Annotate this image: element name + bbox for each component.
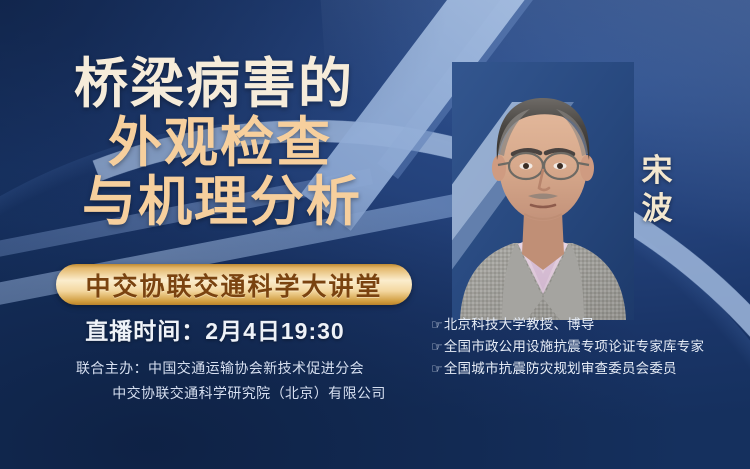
speaker-credentials: ☞ 北京科技大学教授、博导 ☞ 全国市政公用设施抗震专项论证专家库专家 ☞ 全国… <box>431 314 746 380</box>
organizer-line-1: 联合主办：中国交通运输协会新技术促进分会 <box>0 356 440 381</box>
credential-row: ☞ 北京科技大学教授、博导 <box>431 314 746 336</box>
credential-text: 北京科技大学教授、博导 <box>444 314 595 336</box>
title-line-1: 桥梁病害的 <box>0 58 430 111</box>
speaker-name-char-1: 宋 <box>634 152 680 190</box>
series-banner-label: 中交协联交通科学大讲堂 <box>85 267 382 303</box>
credential-row: ☞ 全国市政公用设施抗震专项论证专家库专家 <box>431 336 746 358</box>
speaker-name: 宋 波 <box>634 152 680 228</box>
credential-row: ☞ 全国城市抗震防灾规划审查委员会委员 <box>431 358 746 380</box>
speaker-photo <box>452 62 634 320</box>
page-title: 桥梁病害的 外观检查 与机理分析 <box>0 58 430 229</box>
title-line-3: 与机理分析 <box>0 176 430 229</box>
speaker-name-char-2: 波 <box>634 190 680 228</box>
credential-text: 全国城市抗震防灾规划审查委员会委员 <box>444 358 677 380</box>
organizers: 联合主办：中国交通运输协会新技术促进分会 中交协联交通科学研究院（北京）有限公司 <box>0 356 440 405</box>
organizer-line-2: 中交协联交通科学研究院（北京）有限公司 <box>0 381 440 406</box>
credential-text: 全国市政公用设施抗震专项论证专家库专家 <box>444 336 704 358</box>
webinar-poster: 宋 波 桥梁病害的 外观检查 与机理分析 中交协联交通科学大讲堂 直播时间：2月… <box>0 0 750 469</box>
pointing-hand-icon: ☞ <box>431 358 443 379</box>
pointing-hand-icon: ☞ <box>431 336 443 357</box>
title-line-2: 外观检查 <box>0 117 430 170</box>
live-time: 直播时间：2月4日19:30 <box>0 312 430 346</box>
pointing-hand-icon: ☞ <box>431 314 443 335</box>
series-banner: 中交协联交通科学大讲堂 <box>56 264 412 305</box>
